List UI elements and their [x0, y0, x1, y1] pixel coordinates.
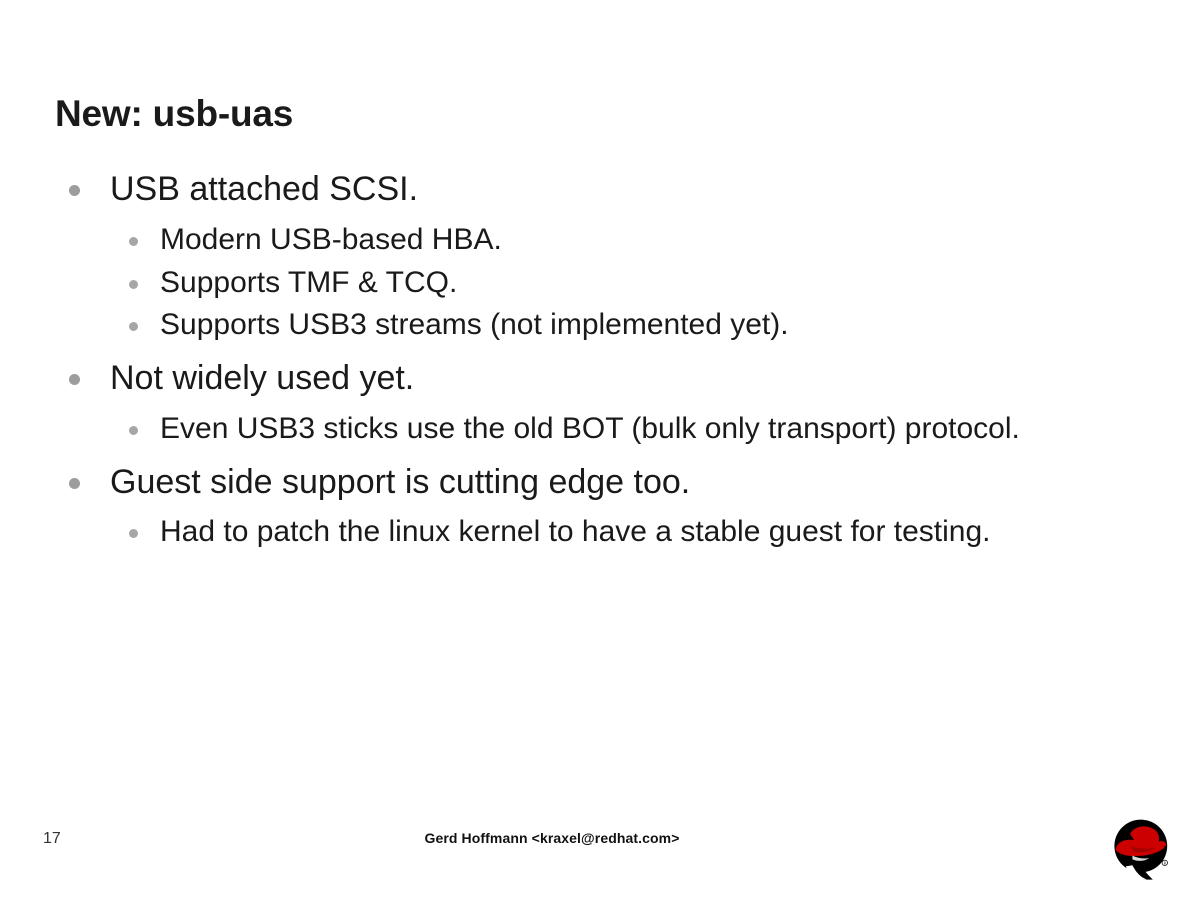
author-credit: Gerd Hoffmann <kraxel@redhat.com> — [0, 830, 1200, 846]
bullet-item: Guest side support is cutting edge too. — [55, 463, 1155, 502]
bullet-marker-icon — [129, 237, 138, 246]
bullet-marker-icon — [69, 374, 80, 385]
bullet-marker-icon — [129, 426, 138, 435]
bullet-item: Modern USB-based HBA. — [55, 223, 1155, 258]
bullet-item: Even USB3 sticks use the old BOT (bulk o… — [55, 412, 1155, 447]
bullet-marker-icon — [129, 529, 138, 538]
bullet-marker-icon — [69, 478, 80, 489]
bullet-item: Supports TMF & TCQ. — [55, 266, 1155, 301]
bullet-item: USB attached SCSI. — [55, 170, 1155, 209]
slide-body: USB attached SCSI. Modern USB-based HBA.… — [55, 170, 1155, 558]
bullet-marker-icon — [129, 280, 138, 289]
red-hat-shadowman-logo: R — [1106, 816, 1178, 882]
slide-title: New: usb-uas — [55, 93, 293, 135]
bullet-item: Not widely used yet. — [55, 359, 1155, 398]
bullet-text: Not widely used yet. — [110, 359, 1155, 398]
bullet-text: Supports USB3 streams (not implemented y… — [160, 308, 1155, 343]
bullet-text: Supports TMF & TCQ. — [160, 266, 1155, 301]
bullet-text: Even USB3 sticks use the old BOT (bulk o… — [160, 412, 1155, 447]
bullet-item: Had to patch the linux kernel to have a … — [55, 515, 1155, 550]
slide-canvas: New: usb-uas USB attached SCSI. Modern U… — [0, 0, 1200, 900]
bullet-text: Had to patch the linux kernel to have a … — [160, 515, 1155, 550]
bullet-item: Supports USB3 streams (not implemented y… — [55, 308, 1155, 343]
bullet-text: USB attached SCSI. — [110, 170, 1155, 209]
bullet-text: Guest side support is cutting edge too. — [110, 463, 1155, 502]
bullet-text: Modern USB-based HBA. — [160, 223, 1155, 258]
bullet-marker-icon — [69, 185, 80, 196]
bullet-marker-icon — [129, 322, 138, 331]
slide-footer: 17 Gerd Hoffmann <kraxel@redhat.com> — [0, 810, 1200, 900]
